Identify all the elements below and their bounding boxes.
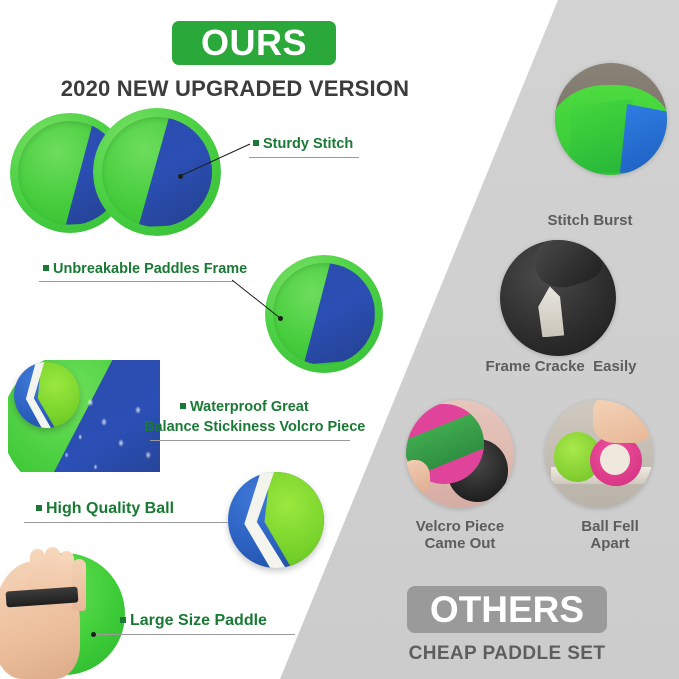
thumb bbox=[406, 460, 430, 492]
hand-paddle-photo bbox=[0, 545, 135, 679]
blue-fabric bbox=[620, 101, 667, 173]
callout-balance-stickiness: Balance Stickiness Volcro Piece bbox=[144, 419, 365, 435]
callout-waterproof: Waterproof Great bbox=[180, 399, 309, 415]
bullet-square bbox=[36, 505, 42, 511]
caption-frame-cracked: Frame Cracke Easily bbox=[456, 358, 666, 375]
photo-velcro-came-out bbox=[406, 400, 514, 508]
callout-rule-waterproof bbox=[150, 440, 350, 441]
ours-badge-label: OURS bbox=[201, 25, 307, 61]
ball-on-paddle bbox=[14, 362, 80, 428]
callout-unbreakable-frame: Unbreakable Paddles Frame bbox=[43, 261, 247, 277]
callout-large-size-paddle: Large Size Paddle bbox=[120, 612, 267, 630]
others-subtitle: CHEAP PADDLE SET bbox=[387, 643, 627, 665]
paddle-face bbox=[273, 263, 375, 365]
photo-ball-fell-apart bbox=[545, 400, 653, 508]
caption-velcro-came-out: Velcro Piece Came Out bbox=[380, 518, 540, 553]
caption-stitch-burst: Stitch Burst bbox=[500, 212, 679, 229]
finger bbox=[72, 559, 86, 611]
bullet-square bbox=[120, 617, 126, 623]
comparison-infographic: OURS 2020 NEW UPGRADED VERSION Sturdy St… bbox=[0, 0, 679, 679]
photo-stitch-burst bbox=[555, 63, 667, 175]
photo-frame-cracked bbox=[500, 240, 616, 356]
others-badge-label: OTHERS bbox=[430, 591, 584, 628]
bullet-square bbox=[180, 403, 186, 409]
velcro-patch bbox=[273, 263, 375, 365]
callout-sturdy-stitch: Sturdy Stitch bbox=[253, 136, 353, 152]
bullet-square bbox=[253, 140, 259, 146]
callout-high-quality-ball: High Quality Ball bbox=[36, 500, 174, 518]
ours-badge: OURS bbox=[172, 21, 336, 65]
others-badge: OTHERS bbox=[407, 586, 607, 633]
leader-dot-sturdy-stitch bbox=[178, 174, 183, 179]
ours-subtitle: 2020 NEW UPGRADED VERSION bbox=[0, 76, 470, 102]
ball-inner-lining bbox=[600, 444, 630, 475]
callout-rule-unbreakable-frame bbox=[39, 281, 234, 282]
leader-dot-unbreakable-frame bbox=[278, 316, 283, 321]
ball-high-quality bbox=[228, 472, 324, 568]
leader-dot-large-size-paddle bbox=[91, 632, 96, 637]
waterproof-paddle-photo bbox=[8, 360, 160, 472]
callout-rule-large-size-paddle bbox=[95, 634, 295, 635]
callout-rule-sturdy-stitch bbox=[249, 157, 359, 158]
bullet-square bbox=[43, 265, 49, 271]
callout-rule-high-quality-ball bbox=[24, 522, 228, 523]
hand bbox=[593, 400, 653, 443]
caption-ball-fell-apart: Ball Fell Apart bbox=[545, 518, 675, 553]
